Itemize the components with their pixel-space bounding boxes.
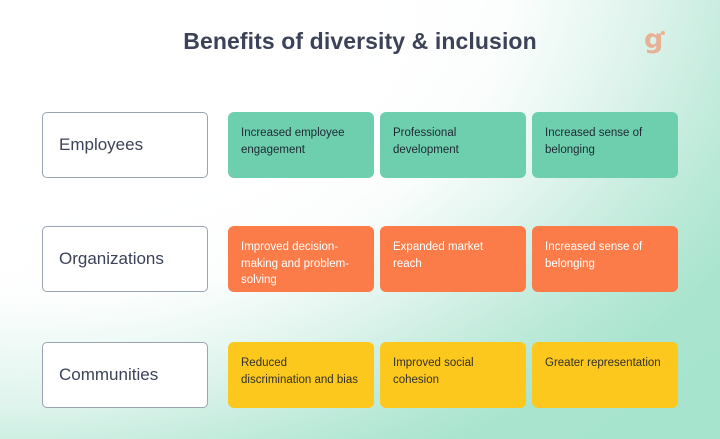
slide-canvas: Benefits of diversity & inclusion g Empl…	[0, 0, 720, 439]
brand-logo-g-icon: g	[644, 26, 663, 53]
brand-logo: g	[644, 29, 678, 59]
benefit-card[interactable]: Increased employee engagement	[228, 112, 374, 178]
row-label-organizations: Organizations	[42, 226, 208, 292]
benefit-card[interactable]: Improved decision-making and problem-sol…	[228, 226, 374, 292]
benefit-row-employees: Employees Increased employee engagement …	[42, 112, 678, 178]
row-label-employees: Employees	[42, 112, 208, 178]
benefit-card[interactable]: Increased sense of belonging	[532, 112, 678, 178]
benefit-card[interactable]: Expanded market reach	[380, 226, 526, 292]
brand-logo-dot-icon	[661, 31, 665, 35]
benefit-card[interactable]: Improved social cohesion	[380, 342, 526, 408]
page-title: Benefits of diversity & inclusion	[0, 28, 720, 55]
benefit-row-communities: Communities Reduced discrimination and b…	[42, 342, 678, 408]
benefit-card[interactable]: Professional development	[380, 112, 526, 178]
benefit-card[interactable]: Greater representation	[532, 342, 678, 408]
row-label-communities: Communities	[42, 342, 208, 408]
benefit-card[interactable]: Reduced discrimination and bias	[228, 342, 374, 408]
benefit-row-organizations: Organizations Improved decision-making a…	[42, 226, 678, 292]
benefit-card[interactable]: Increased sense of belonging	[532, 226, 678, 292]
